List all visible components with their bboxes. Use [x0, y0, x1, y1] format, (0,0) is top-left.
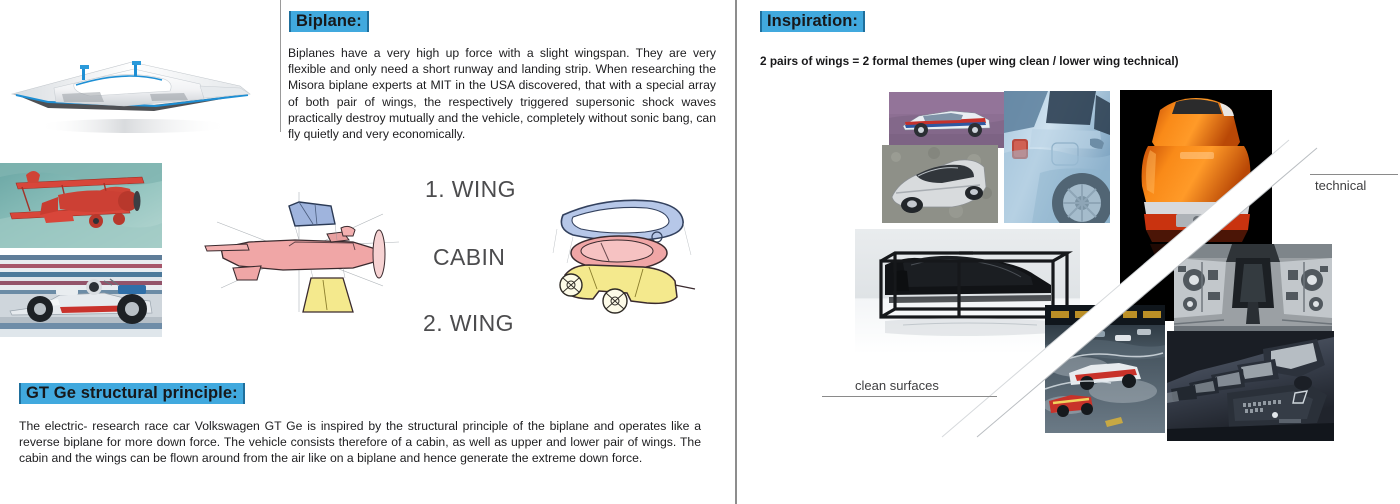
biplane-body-text: Biplanes have a very high up force with …	[288, 45, 716, 142]
vintage-f1-photo	[0, 255, 162, 337]
label-wing-1: 1. WING	[425, 176, 516, 203]
biplane-heading-label: Biplane:	[289, 11, 369, 32]
exploded-car-sketch	[543, 193, 698, 315]
biplane-heading: Biplane:	[289, 11, 369, 32]
gt-ge-body-text: The electric- research race car Volkswag…	[19, 418, 701, 467]
label-wing-2: 2. WING	[423, 310, 514, 337]
clean-surfaces-label: clean surfaces	[855, 378, 939, 393]
vw-sp2-silver-tile	[882, 145, 998, 223]
stealth-jet-tile	[1167, 331, 1334, 441]
left-page: Biplane: Biplanes have a very high up fo…	[0, 0, 735, 504]
biplane-column-rule	[280, 0, 281, 132]
clean-surfaces-leader-line	[822, 396, 997, 397]
gt-ge-heading: GT Ge structural principle:	[19, 383, 245, 404]
technical-leader-line	[1310, 174, 1398, 175]
exploded-plane-sketch	[203, 188, 401, 316]
inspiration-subtitle: 2 pairs of wings = 2 formal themes (uper…	[760, 54, 1179, 68]
red-biplane-photo	[0, 163, 162, 248]
wet-race-tile	[1045, 305, 1165, 433]
presentation-page: Biplane: Biplanes have a very high up fo…	[0, 0, 1400, 504]
inspiration-heading: Inspiration:	[760, 11, 865, 32]
right-page: Inspiration: 2 pairs of wings = 2 formal…	[737, 0, 1400, 504]
vw-sp2-purple-tile	[889, 92, 1004, 148]
gt-ge-heading-label: GT Ge structural principle:	[19, 383, 245, 404]
vw-golf-blue-tile	[1004, 91, 1110, 223]
technical-label: technical	[1315, 178, 1366, 193]
inspiration-heading-label: Inspiration:	[760, 11, 865, 32]
concept-plane-render	[4, 42, 266, 147]
label-cabin: CABIN	[433, 244, 505, 271]
engine-technical-tile	[1174, 244, 1332, 334]
svg-text:BERTONE: BERTONE	[1126, 286, 1146, 291]
